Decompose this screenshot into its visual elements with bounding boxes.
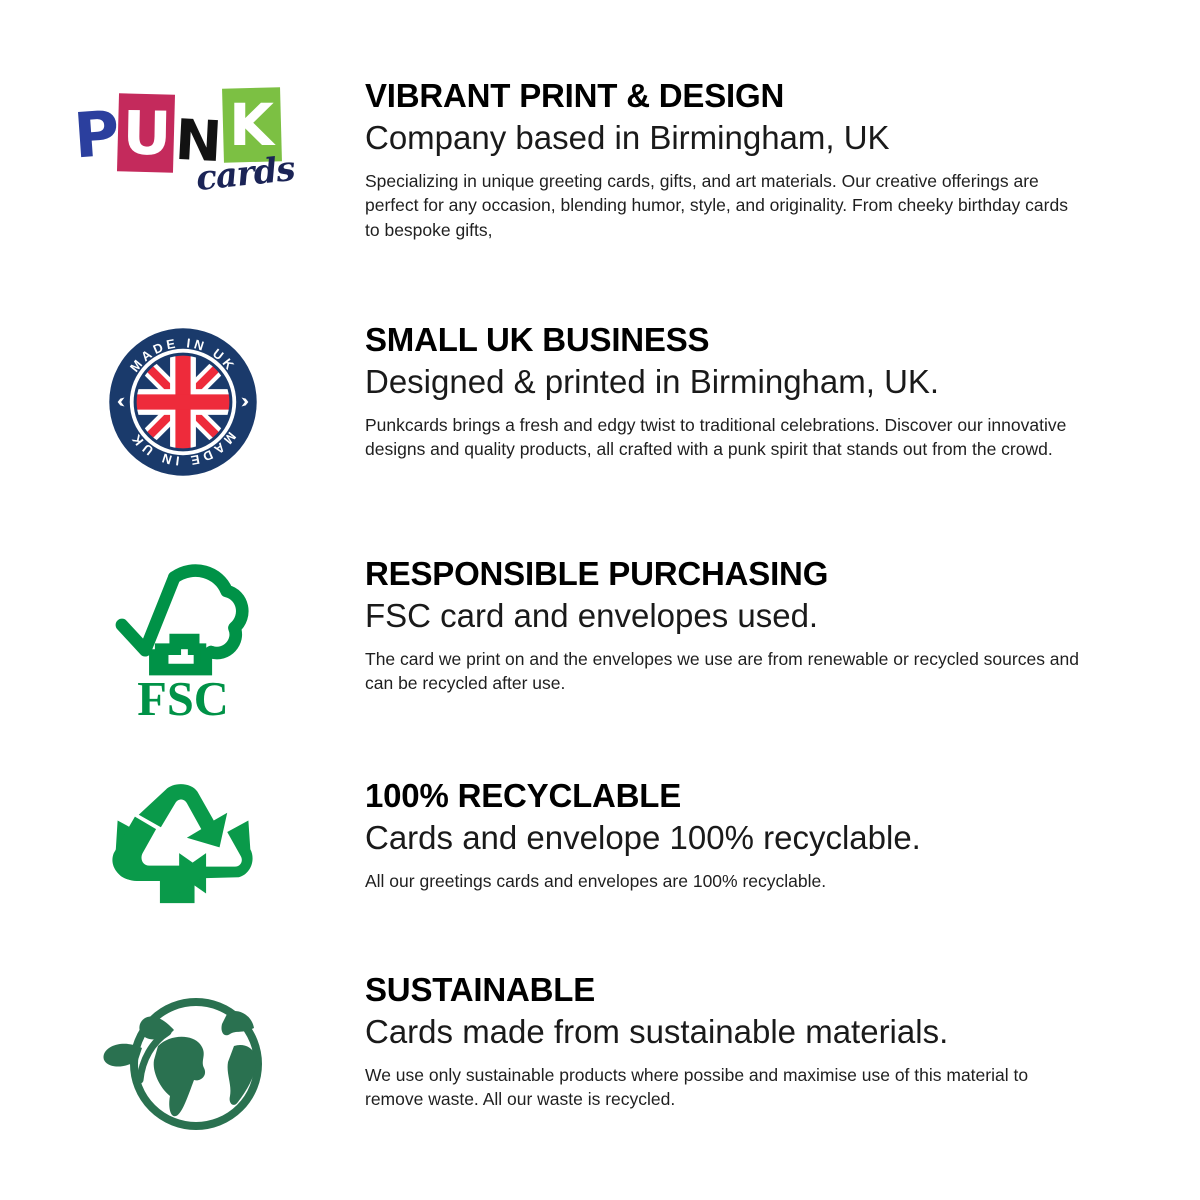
feature-icon-cell: P U N K cards	[0, 78, 365, 192]
feature-title: 100% RECYCLABLE	[365, 778, 1100, 814]
feature-row: SUSTAINABLE Cards made from sustainable …	[0, 972, 1200, 1141]
recycle-symbol-icon	[103, 782, 263, 912]
feature-row: 100% RECYCLABLE Cards and envelope 100% …	[0, 778, 1200, 912]
feature-title: RESPONSIBLE PURCHASING	[365, 556, 1100, 592]
feature-text-cell: SUSTAINABLE Cards made from sustainable …	[365, 972, 1200, 1112]
fsc-logo-icon: FSC	[108, 560, 258, 725]
logo-letter-k: K	[225, 96, 279, 154]
feature-body: All our greetings cards and envelopes ar…	[365, 869, 1085, 894]
feature-text-cell: RESPONSIBLE PURCHASING FSC card and enve…	[365, 556, 1200, 696]
feature-body: Specializing in unique greeting cards, g…	[365, 169, 1085, 244]
feature-title: SUSTAINABLE	[365, 972, 1100, 1008]
feature-subtitle: Designed & printed in Birmingham, UK.	[365, 364, 1100, 401]
globe-sprout-icon	[88, 976, 278, 1141]
logo-letter-u: U	[119, 104, 174, 165]
feature-text-cell: VIBRANT PRINT & DESIGN Company based in …	[365, 78, 1200, 243]
feature-title: SMALL UK BUSINESS	[365, 322, 1100, 358]
feature-subtitle: Company based in Birmingham, UK	[365, 120, 1100, 157]
feature-title: VIBRANT PRINT & DESIGN	[365, 78, 1100, 114]
feature-row: MADE IN UK MADE IN UK SMALL UK BUSINESS …	[0, 322, 1200, 478]
feature-icon-cell	[0, 778, 365, 912]
punkcards-logo-icon: P U N K cards	[68, 82, 298, 192]
logo-letter-p: P	[71, 102, 121, 167]
feature-icon-cell: MADE IN UK MADE IN UK	[0, 322, 365, 478]
feature-text-cell: SMALL UK BUSINESS Designed & printed in …	[365, 322, 1200, 462]
feature-subtitle: FSC card and envelopes used.	[365, 598, 1100, 635]
feature-subtitle: Cards made from sustainable materials.	[365, 1014, 1100, 1051]
feature-row: FSC RESPONSIBLE PURCHASING FSC card and …	[0, 556, 1200, 725]
feature-row: P U N K cards VIBRANT PRINT & DESIGN Com…	[0, 78, 1200, 243]
feature-text-cell: 100% RECYCLABLE Cards and envelope 100% …	[365, 778, 1200, 893]
feature-icon-cell: FSC	[0, 556, 365, 725]
made-in-uk-badge-icon: MADE IN UK MADE IN UK	[107, 326, 259, 478]
feature-icon-cell	[0, 972, 365, 1141]
feature-body: We use only sustainable products where p…	[365, 1063, 1085, 1113]
fsc-label: FSC	[137, 673, 229, 720]
feature-body: The card we print on and the envelopes w…	[365, 647, 1085, 697]
feature-subtitle: Cards and envelope 100% recyclable.	[365, 820, 1100, 857]
feature-body: Punkcards brings a fresh and edgy twist …	[365, 413, 1085, 463]
feature-list-page: P U N K cards VIBRANT PRINT & DESIGN Com…	[0, 0, 1200, 1200]
